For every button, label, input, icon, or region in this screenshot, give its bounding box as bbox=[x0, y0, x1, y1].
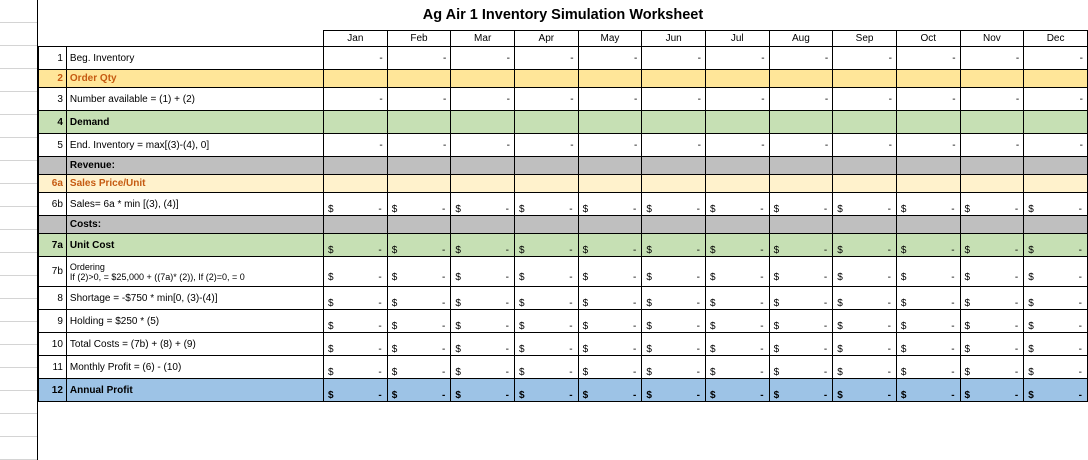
table-row: 2Order Qty bbox=[39, 70, 1088, 88]
data-cell[interactable]: $- bbox=[387, 356, 451, 379]
data-cell[interactable]: $- bbox=[705, 257, 769, 287]
cell-value: - bbox=[824, 245, 827, 256]
data-cell[interactable] bbox=[769, 216, 833, 234]
data-cell[interactable]: $- bbox=[960, 257, 1024, 287]
cell-value: - bbox=[569, 321, 572, 332]
data-cell[interactable] bbox=[515, 216, 579, 234]
currency-symbol: $ bbox=[392, 298, 398, 309]
data-cell[interactable]: $- bbox=[1024, 257, 1088, 287]
data-cell[interactable] bbox=[896, 216, 960, 234]
data-cell[interactable] bbox=[578, 216, 642, 234]
row-label: Revenue: bbox=[66, 157, 323, 175]
cell-value: - bbox=[760, 321, 763, 332]
data-cell[interactable]: $- bbox=[705, 333, 769, 356]
data-cell[interactable]: - bbox=[769, 47, 833, 70]
data-cell[interactable] bbox=[324, 70, 388, 88]
data-cell[interactable]: $- bbox=[578, 287, 642, 310]
data-cell[interactable]: - bbox=[451, 134, 515, 157]
data-cell[interactable] bbox=[451, 216, 515, 234]
data-cell[interactable]: - bbox=[833, 88, 897, 111]
data-cell[interactable]: $- bbox=[705, 287, 769, 310]
cell-value: - bbox=[951, 298, 954, 309]
data-cell[interactable]: $- bbox=[896, 333, 960, 356]
gutter-row bbox=[0, 322, 37, 345]
currency-symbol: $ bbox=[646, 321, 652, 332]
data-cell[interactable] bbox=[705, 175, 769, 193]
currency-symbol: $ bbox=[837, 298, 843, 309]
cell-value: - bbox=[1015, 204, 1018, 215]
data-cell[interactable]: $- bbox=[324, 257, 388, 287]
data-cell[interactable]: - bbox=[1024, 47, 1088, 70]
data-cell[interactable] bbox=[515, 175, 579, 193]
cell-value: - bbox=[824, 321, 827, 332]
cell-value: - bbox=[824, 344, 827, 355]
data-cell[interactable]: $- bbox=[1024, 193, 1088, 216]
data-cell[interactable]: $- bbox=[451, 379, 515, 402]
cell-value: - bbox=[569, 367, 572, 378]
gutter-row bbox=[0, 414, 37, 437]
data-cell[interactable]: - bbox=[387, 88, 451, 111]
data-cell[interactable] bbox=[960, 111, 1024, 134]
data-cell[interactable]: $- bbox=[387, 310, 451, 333]
data-cell[interactable]: $- bbox=[896, 287, 960, 310]
row-label: Order Qty bbox=[66, 70, 323, 88]
currency-symbol: $ bbox=[328, 204, 334, 215]
data-cell[interactable]: - bbox=[705, 134, 769, 157]
data-cell[interactable]: - bbox=[896, 47, 960, 70]
data-cell[interactable] bbox=[960, 70, 1024, 88]
data-cell[interactable] bbox=[1024, 216, 1088, 234]
row-number: 6b bbox=[39, 193, 67, 216]
data-cell[interactable]: - bbox=[515, 47, 579, 70]
data-cell[interactable] bbox=[642, 70, 706, 88]
cell-value: - bbox=[888, 204, 891, 215]
cell-value: - bbox=[1015, 245, 1018, 256]
gutter-row bbox=[0, 46, 37, 69]
data-cell[interactable]: $- bbox=[387, 333, 451, 356]
data-cell[interactable]: $- bbox=[1024, 234, 1088, 257]
data-cell[interactable]: $- bbox=[578, 356, 642, 379]
cell-value: - bbox=[697, 367, 700, 378]
cell-value: - bbox=[1015, 321, 1018, 332]
cell-value: - bbox=[697, 390, 700, 401]
data-cell[interactable] bbox=[578, 157, 642, 175]
data-cell[interactable]: $- bbox=[515, 356, 579, 379]
data-cell[interactable]: $- bbox=[769, 287, 833, 310]
cell-value: - bbox=[569, 344, 572, 355]
data-cell[interactable]: $- bbox=[451, 356, 515, 379]
currency-symbol: $ bbox=[455, 245, 461, 256]
data-cell[interactable]: $- bbox=[642, 356, 706, 379]
cell-value: - bbox=[506, 390, 509, 401]
data-cell[interactable]: - bbox=[960, 47, 1024, 70]
row-number bbox=[39, 157, 67, 175]
currency-symbol: $ bbox=[901, 321, 907, 332]
cell-value: - bbox=[442, 245, 445, 256]
data-cell[interactable] bbox=[642, 216, 706, 234]
row-number: 12 bbox=[39, 379, 67, 402]
cell-value: - bbox=[824, 298, 827, 309]
currency-symbol: $ bbox=[519, 390, 525, 401]
data-cell[interactable]: - bbox=[896, 88, 960, 111]
row-number: 6a bbox=[39, 175, 67, 193]
data-cell[interactable]: $- bbox=[1024, 287, 1088, 310]
currency-symbol: $ bbox=[774, 344, 780, 355]
data-cell[interactable]: $- bbox=[960, 333, 1024, 356]
data-cell[interactable]: $- bbox=[387, 193, 451, 216]
data-cell[interactable] bbox=[769, 111, 833, 134]
table-row: Revenue: bbox=[39, 157, 1088, 175]
data-cell[interactable] bbox=[960, 216, 1024, 234]
cell-value: - bbox=[697, 272, 700, 283]
currency-symbol: $ bbox=[837, 272, 843, 283]
data-cell[interactable] bbox=[451, 157, 515, 175]
data-cell[interactable]: $- bbox=[896, 379, 960, 402]
data-cell[interactable] bbox=[960, 157, 1024, 175]
data-cell[interactable] bbox=[1024, 175, 1088, 193]
data-cell[interactable] bbox=[896, 157, 960, 175]
data-cell[interactable]: $- bbox=[896, 310, 960, 333]
data-cell[interactable]: $- bbox=[896, 257, 960, 287]
data-cell[interactable]: $- bbox=[324, 310, 388, 333]
data-cell[interactable]: $- bbox=[642, 257, 706, 287]
data-cell[interactable]: $- bbox=[515, 379, 579, 402]
data-cell[interactable]: $- bbox=[578, 234, 642, 257]
month-header-mar: Mar bbox=[451, 31, 515, 47]
currency-symbol: $ bbox=[646, 344, 652, 355]
currency-symbol: $ bbox=[583, 204, 589, 215]
cell-value: - bbox=[697, 298, 700, 309]
currency-symbol: $ bbox=[837, 344, 843, 355]
data-cell[interactable]: $- bbox=[833, 234, 897, 257]
data-cell[interactable]: $- bbox=[451, 193, 515, 216]
data-cell[interactable] bbox=[769, 70, 833, 88]
header-spacer-label bbox=[66, 31, 323, 47]
data-cell[interactable]: $- bbox=[578, 333, 642, 356]
data-cell[interactable]: $- bbox=[960, 379, 1024, 402]
data-cell[interactable]: $- bbox=[578, 257, 642, 287]
currency-symbol: $ bbox=[455, 204, 461, 215]
data-cell[interactable] bbox=[578, 70, 642, 88]
data-cell[interactable]: $- bbox=[324, 287, 388, 310]
data-cell[interactable]: $- bbox=[960, 287, 1024, 310]
data-cell[interactable]: - bbox=[451, 47, 515, 70]
data-cell[interactable]: - bbox=[642, 134, 706, 157]
data-cell[interactable]: - bbox=[1024, 88, 1088, 111]
data-cell[interactable]: $- bbox=[1024, 310, 1088, 333]
data-cell[interactable] bbox=[451, 111, 515, 134]
data-cell[interactable] bbox=[642, 175, 706, 193]
data-cell[interactable]: $- bbox=[387, 234, 451, 257]
data-cell[interactable] bbox=[705, 70, 769, 88]
data-cell[interactable]: $- bbox=[642, 193, 706, 216]
currency-symbol: $ bbox=[392, 321, 398, 332]
data-cell[interactable]: - bbox=[387, 47, 451, 70]
data-cell[interactable] bbox=[324, 157, 388, 175]
data-cell[interactable] bbox=[387, 70, 451, 88]
gutter-row bbox=[0, 161, 37, 184]
data-cell[interactable]: $- bbox=[515, 257, 579, 287]
data-cell[interactable]: $- bbox=[515, 310, 579, 333]
data-cell[interactable] bbox=[769, 175, 833, 193]
data-cell[interactable] bbox=[515, 111, 579, 134]
data-cell[interactable]: - bbox=[515, 134, 579, 157]
data-cell[interactable]: - bbox=[515, 88, 579, 111]
data-cell[interactable]: - bbox=[451, 88, 515, 111]
row-number: 1 bbox=[39, 47, 67, 70]
data-cell[interactable]: $- bbox=[324, 333, 388, 356]
data-cell[interactable]: $- bbox=[960, 310, 1024, 333]
currency-symbol: $ bbox=[774, 321, 780, 332]
cell-value: - bbox=[633, 272, 636, 283]
data-cell[interactable]: - bbox=[642, 88, 706, 111]
currency-symbol: $ bbox=[1028, 344, 1034, 355]
data-cell[interactable]: $- bbox=[642, 379, 706, 402]
data-cell[interactable]: $- bbox=[642, 333, 706, 356]
data-cell[interactable]: $- bbox=[642, 287, 706, 310]
data-cell[interactable]: $- bbox=[578, 310, 642, 333]
data-cell[interactable] bbox=[387, 216, 451, 234]
data-cell[interactable] bbox=[896, 111, 960, 134]
gutter-row bbox=[0, 299, 37, 322]
data-cell[interactable]: $- bbox=[578, 379, 642, 402]
cell-value: - bbox=[633, 298, 636, 309]
data-cell[interactable]: $- bbox=[324, 193, 388, 216]
data-cell[interactable] bbox=[769, 157, 833, 175]
data-cell[interactable]: $- bbox=[387, 379, 451, 402]
data-cell[interactable]: $- bbox=[451, 333, 515, 356]
data-cell[interactable] bbox=[896, 175, 960, 193]
cell-value: - bbox=[506, 204, 509, 215]
row-label: Costs: bbox=[66, 216, 323, 234]
data-cell[interactable]: $- bbox=[833, 333, 897, 356]
currency-symbol: $ bbox=[583, 321, 589, 332]
data-cell[interactable]: $- bbox=[896, 356, 960, 379]
data-cell[interactable] bbox=[833, 175, 897, 193]
data-cell[interactable] bbox=[578, 111, 642, 134]
data-cell[interactable]: $- bbox=[515, 333, 579, 356]
data-cell[interactable] bbox=[387, 157, 451, 175]
data-cell[interactable]: $- bbox=[642, 310, 706, 333]
data-cell[interactable]: - bbox=[578, 88, 642, 111]
data-cell[interactable]: - bbox=[578, 134, 642, 157]
cell-value: - bbox=[378, 298, 381, 309]
month-header-jan: Jan bbox=[324, 31, 388, 47]
data-cell[interactable]: - bbox=[833, 134, 897, 157]
header-spacer bbox=[39, 31, 67, 47]
cell-value: - bbox=[760, 344, 763, 355]
cell-value: - bbox=[378, 390, 381, 401]
row-number: 7b bbox=[39, 257, 67, 287]
data-cell[interactable]: - bbox=[705, 88, 769, 111]
data-cell[interactable] bbox=[324, 216, 388, 234]
data-cell[interactable]: $- bbox=[769, 310, 833, 333]
data-cell[interactable]: $- bbox=[960, 356, 1024, 379]
data-cell[interactable]: $- bbox=[705, 379, 769, 402]
cell-value: - bbox=[951, 321, 954, 332]
data-cell[interactable] bbox=[896, 70, 960, 88]
data-cell[interactable]: - bbox=[769, 134, 833, 157]
month-header-jul: Jul bbox=[705, 31, 769, 47]
data-cell[interactable]: $- bbox=[833, 257, 897, 287]
page-title: Ag Air 1 Inventory Simulation Worksheet bbox=[38, 0, 1088, 30]
data-cell[interactable]: $- bbox=[387, 287, 451, 310]
currency-symbol: $ bbox=[392, 367, 398, 378]
data-cell[interactable]: $- bbox=[515, 287, 579, 310]
cell-value: - bbox=[1015, 367, 1018, 378]
data-cell[interactable]: $- bbox=[705, 310, 769, 333]
row-number bbox=[39, 216, 67, 234]
cell-value: - bbox=[378, 321, 381, 332]
gutter-row bbox=[0, 253, 37, 276]
data-cell[interactable]: $- bbox=[833, 356, 897, 379]
data-cell[interactable]: $- bbox=[324, 234, 388, 257]
data-cell[interactable]: $- bbox=[578, 193, 642, 216]
data-cell[interactable] bbox=[515, 157, 579, 175]
data-cell[interactable]: $- bbox=[451, 257, 515, 287]
data-cell[interactable] bbox=[642, 111, 706, 134]
data-cell[interactable] bbox=[451, 70, 515, 88]
data-cell[interactable]: $- bbox=[769, 193, 833, 216]
data-cell[interactable] bbox=[324, 175, 388, 193]
gutter-row bbox=[0, 184, 37, 207]
cell-value: - bbox=[888, 245, 891, 256]
data-cell[interactable]: $- bbox=[769, 379, 833, 402]
spreadsheet-worksheet: Ag Air 1 Inventory Simulation Worksheet … bbox=[0, 0, 1088, 460]
data-cell[interactable] bbox=[705, 111, 769, 134]
data-cell[interactable]: - bbox=[578, 47, 642, 70]
data-cell[interactable]: - bbox=[324, 134, 388, 157]
cell-value: - bbox=[951, 344, 954, 355]
data-cell[interactable] bbox=[387, 111, 451, 134]
data-cell[interactable] bbox=[515, 70, 579, 88]
data-cell[interactable]: $- bbox=[833, 193, 897, 216]
data-cell[interactable]: $- bbox=[324, 356, 388, 379]
row-label: Beg. Inventory bbox=[66, 47, 323, 70]
data-cell[interactable]: $- bbox=[960, 193, 1024, 216]
data-cell[interactable]: - bbox=[960, 134, 1024, 157]
gutter-row bbox=[0, 138, 37, 161]
data-cell[interactable] bbox=[833, 70, 897, 88]
cell-value: - bbox=[569, 298, 572, 309]
currency-symbol: $ bbox=[1028, 390, 1034, 401]
data-cell[interactable]: $- bbox=[769, 356, 833, 379]
data-cell[interactable]: - bbox=[324, 47, 388, 70]
data-cell[interactable] bbox=[960, 175, 1024, 193]
data-cell[interactable]: $- bbox=[451, 234, 515, 257]
data-cell[interactable] bbox=[578, 175, 642, 193]
row-label: Sales= 6a * min [(3), (4)] bbox=[66, 193, 323, 216]
data-cell[interactable] bbox=[451, 175, 515, 193]
data-cell[interactable]: - bbox=[324, 88, 388, 111]
cell-value: - bbox=[569, 204, 572, 215]
currency-symbol: $ bbox=[328, 321, 334, 332]
month-header-jun: Jun bbox=[642, 31, 706, 47]
cell-value: - bbox=[951, 390, 954, 401]
data-cell[interactable] bbox=[833, 157, 897, 175]
data-cell[interactable]: $- bbox=[324, 379, 388, 402]
cell-value: - bbox=[888, 344, 891, 355]
row-number: 4 bbox=[39, 111, 67, 134]
data-cell[interactable]: $- bbox=[705, 193, 769, 216]
data-cell[interactable]: $- bbox=[515, 193, 579, 216]
cell-value: - bbox=[506, 272, 509, 283]
data-cell[interactable] bbox=[705, 157, 769, 175]
data-cell[interactable]: $- bbox=[769, 234, 833, 257]
currency-symbol: $ bbox=[901, 245, 907, 256]
data-cell[interactable] bbox=[1024, 70, 1088, 88]
cell-value: - bbox=[378, 204, 381, 215]
currency-symbol: $ bbox=[519, 204, 525, 215]
currency-symbol: $ bbox=[710, 344, 716, 355]
data-cell[interactable]: $- bbox=[833, 287, 897, 310]
data-cell[interactable]: $- bbox=[769, 257, 833, 287]
cell-value: - bbox=[697, 245, 700, 256]
row-label: Number available = (1) + (2) bbox=[66, 88, 323, 111]
cell-value: - bbox=[1079, 245, 1082, 256]
data-cell[interactable]: $- bbox=[769, 333, 833, 356]
data-cell[interactable]: $- bbox=[451, 310, 515, 333]
cell-value: - bbox=[697, 344, 700, 355]
data-cell[interactable] bbox=[324, 111, 388, 134]
cell-value: - bbox=[951, 272, 954, 283]
data-cell[interactable]: $- bbox=[705, 356, 769, 379]
data-cell[interactable]: - bbox=[960, 88, 1024, 111]
data-cell[interactable]: - bbox=[769, 88, 833, 111]
currency-symbol: $ bbox=[392, 245, 398, 256]
data-cell[interactable]: $- bbox=[451, 287, 515, 310]
data-cell[interactable]: $- bbox=[387, 257, 451, 287]
data-cell[interactable] bbox=[1024, 111, 1088, 134]
row-label: OrderingIf (2)>0, = $25,000 + ((7a)* (2)… bbox=[66, 257, 323, 287]
currency-symbol: $ bbox=[965, 344, 971, 355]
data-cell[interactable] bbox=[642, 157, 706, 175]
data-cell[interactable]: $- bbox=[642, 234, 706, 257]
data-cell[interactable]: - bbox=[1024, 134, 1088, 157]
data-cell[interactable]: $- bbox=[705, 234, 769, 257]
currency-symbol: $ bbox=[965, 272, 971, 283]
data-cell[interactable]: $- bbox=[896, 193, 960, 216]
data-cell[interactable]: $- bbox=[1024, 379, 1088, 402]
data-cell[interactable]: - bbox=[705, 47, 769, 70]
data-cell[interactable]: $- bbox=[515, 234, 579, 257]
currency-symbol: $ bbox=[519, 272, 525, 283]
data-cell[interactable]: $- bbox=[1024, 333, 1088, 356]
data-cell[interactable]: $- bbox=[833, 379, 897, 402]
currency-symbol: $ bbox=[1028, 204, 1034, 215]
data-cell[interactable] bbox=[1024, 157, 1088, 175]
data-cell[interactable]: - bbox=[642, 47, 706, 70]
currency-symbol: $ bbox=[710, 204, 716, 215]
data-cell[interactable] bbox=[833, 216, 897, 234]
currency-symbol: $ bbox=[455, 321, 461, 332]
data-cell[interactable]: $- bbox=[833, 310, 897, 333]
cell-value: - bbox=[633, 204, 636, 215]
data-cell[interactable]: $- bbox=[896, 234, 960, 257]
cell-value: - bbox=[378, 245, 381, 256]
data-cell[interactable]: - bbox=[896, 134, 960, 157]
data-cell[interactable]: $- bbox=[1024, 356, 1088, 379]
data-cell[interactable] bbox=[705, 216, 769, 234]
table-row: 6bSales= 6a * min [(3), (4)]$-$-$-$-$-$-… bbox=[39, 193, 1088, 216]
table-row: 7bOrderingIf (2)>0, = $25,000 + ((7a)* (… bbox=[39, 257, 1088, 287]
data-cell[interactable]: $- bbox=[960, 234, 1024, 257]
data-cell[interactable] bbox=[387, 175, 451, 193]
cell-value: - bbox=[760, 245, 763, 256]
data-cell[interactable] bbox=[833, 111, 897, 134]
data-cell[interactable]: - bbox=[833, 47, 897, 70]
data-cell[interactable]: - bbox=[387, 134, 451, 157]
